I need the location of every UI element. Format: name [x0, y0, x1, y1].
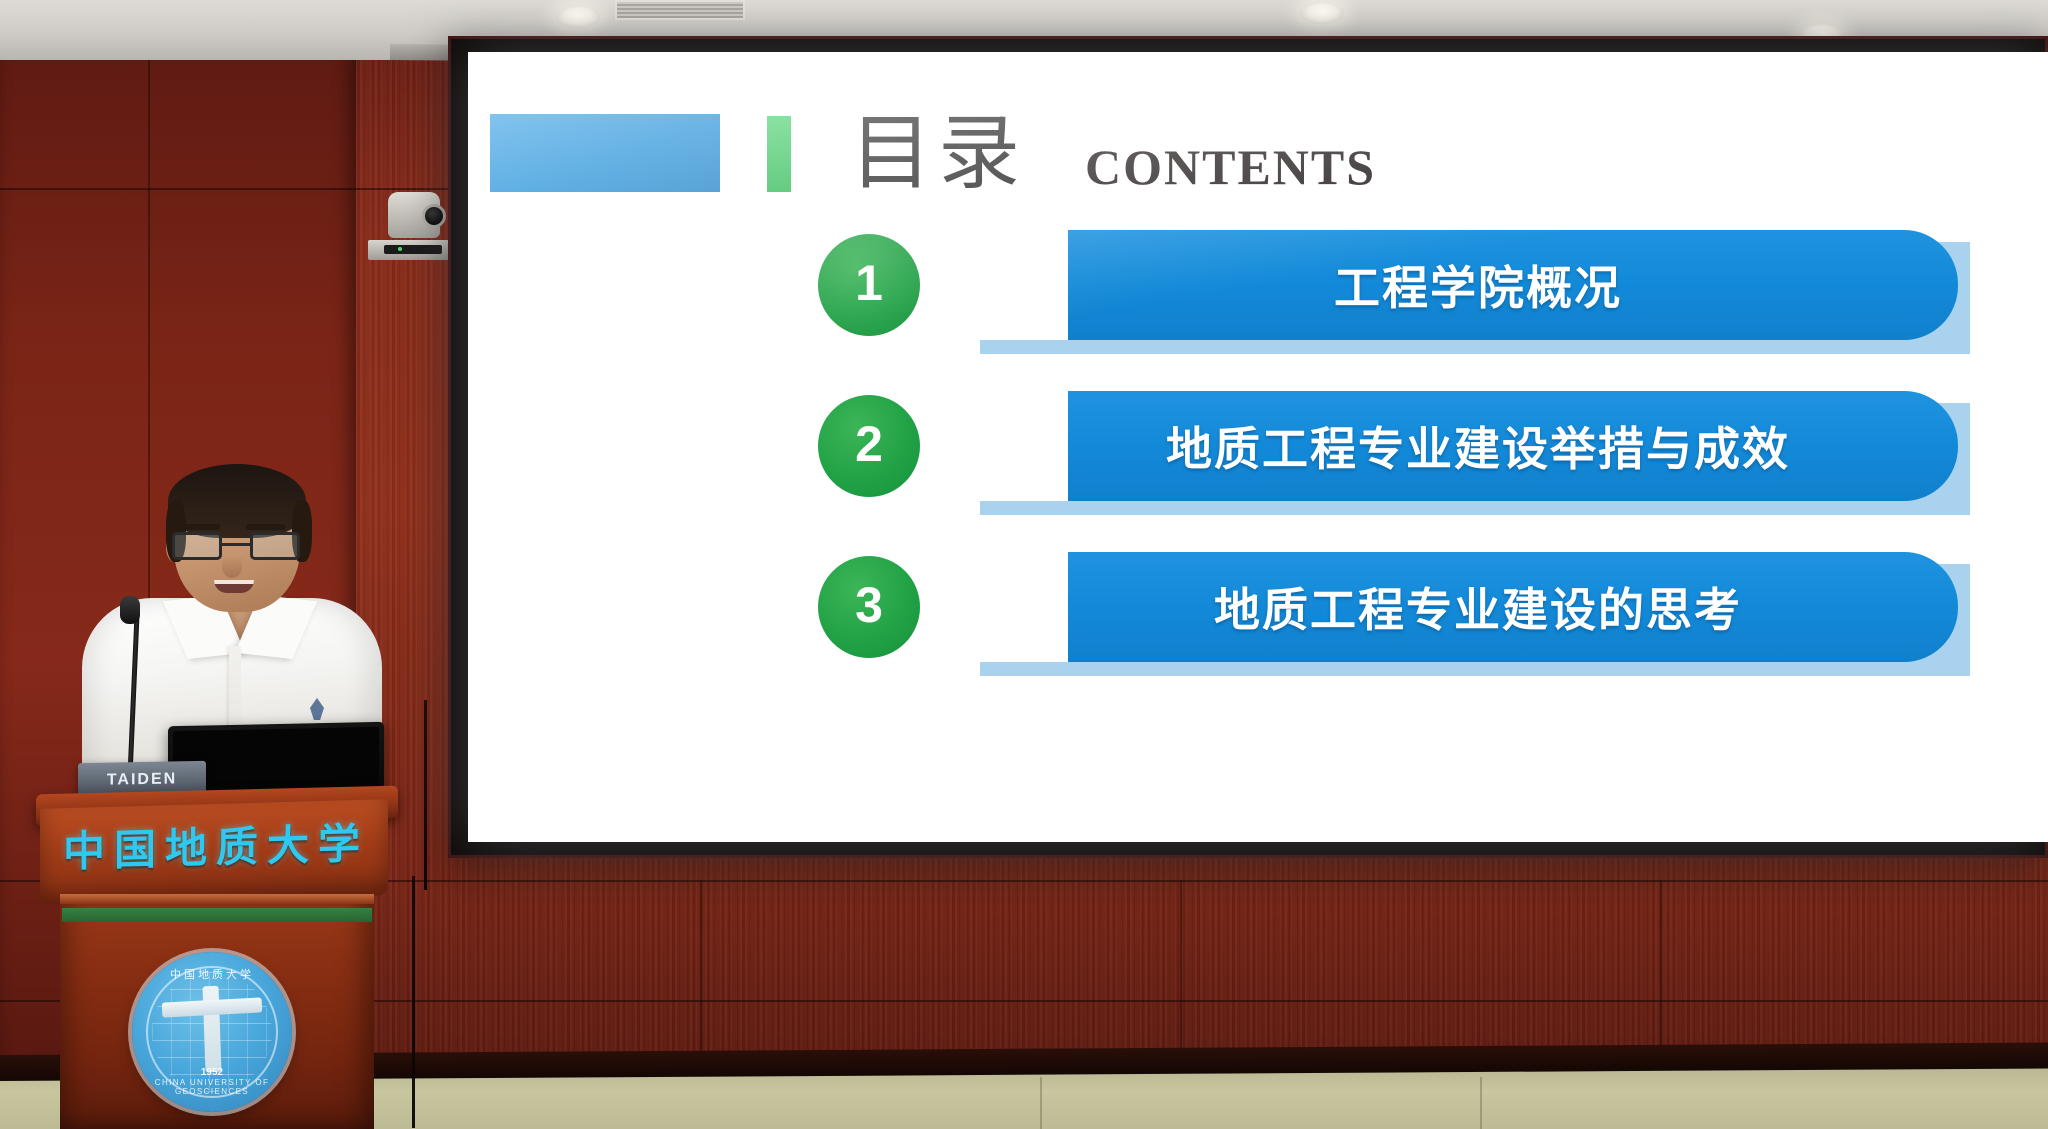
header-green-bar	[767, 116, 791, 192]
glasses-lens-right	[250, 532, 300, 560]
power-cable	[412, 876, 415, 1128]
ceiling-downlight	[1300, 2, 1344, 24]
toc-item-2[interactable]: 2 地质工程专业建设举措与成效	[468, 391, 2048, 526]
header-blue-block	[490, 114, 720, 192]
ptz-camera	[368, 192, 458, 260]
ptz-camera-head	[388, 192, 440, 238]
toc-number-circle: 2	[818, 395, 920, 497]
slide-header: 目录 CONTENTS	[490, 100, 2030, 210]
toc-number-circle: 1	[818, 234, 920, 336]
wood-panel-seam	[0, 188, 448, 190]
ptz-camera-base	[368, 240, 458, 260]
speaker-eyebrow-left	[180, 524, 220, 530]
floor-tile-seam	[1480, 1077, 1482, 1129]
lecture-hall-photo: 目录 CONTENTS 1 工程学院概况 2	[0, 0, 2048, 1129]
glasses-lens-left	[172, 532, 222, 560]
podium-university-sign: 中国地质大学	[58, 808, 374, 881]
slide-title-en: CONTENTS	[1085, 134, 1376, 200]
toc-item-1[interactable]: 1 工程学院概况	[468, 230, 2048, 365]
toc-item-3[interactable]: 3 地质工程专业建设的思考	[468, 552, 2048, 687]
camera-ir-strip	[384, 245, 442, 254]
toc-label: 地质工程专业建设举措与成效	[1028, 391, 1928, 501]
power-cable	[424, 700, 427, 890]
slide-title-cn: 目录	[850, 102, 1026, 206]
podium-trim	[60, 894, 374, 904]
toc-label: 工程学院概况	[1028, 230, 1928, 340]
camera-lens-icon	[422, 204, 446, 228]
toc-number: 3	[855, 580, 883, 634]
toc-number-circle: 3	[818, 556, 920, 658]
toc-number: 1	[855, 258, 883, 312]
speaker-nose	[222, 556, 242, 578]
podium-green-stripe	[62, 908, 372, 922]
microphone-capsule-icon	[120, 596, 140, 624]
podium-sign-text: 中国地质大学	[63, 809, 369, 879]
conference-unit-brand: TAIDEN	[78, 770, 206, 790]
speaker-eyebrow-right	[246, 524, 286, 530]
glasses-bridge	[222, 543, 252, 546]
hvac-vent-grille	[615, 0, 745, 20]
emblem-cn-name: 中国地质大学	[132, 966, 292, 982]
ceiling-downlight	[556, 6, 600, 28]
toc-number: 2	[855, 419, 883, 473]
emblem-year: 1952	[132, 1067, 292, 1078]
emblem-en-name: CHINA UNIVERSITY OF GEOSCIENCES	[132, 1078, 292, 1096]
camera-status-led	[398, 247, 402, 251]
table-of-contents: 1 工程学院概况 2 地质工程专业建设举措与成效 3	[468, 230, 2048, 713]
floor-tile-seam	[1040, 1077, 1042, 1129]
projected-slide: 目录 CONTENTS 1 工程学院概况 2	[468, 52, 2048, 842]
toc-label: 地质工程专业建设的思考	[1028, 552, 1928, 662]
university-emblem: 中国地质大学 1952 CHINA UNIVERSITY OF GEOSCIEN…	[132, 952, 292, 1112]
